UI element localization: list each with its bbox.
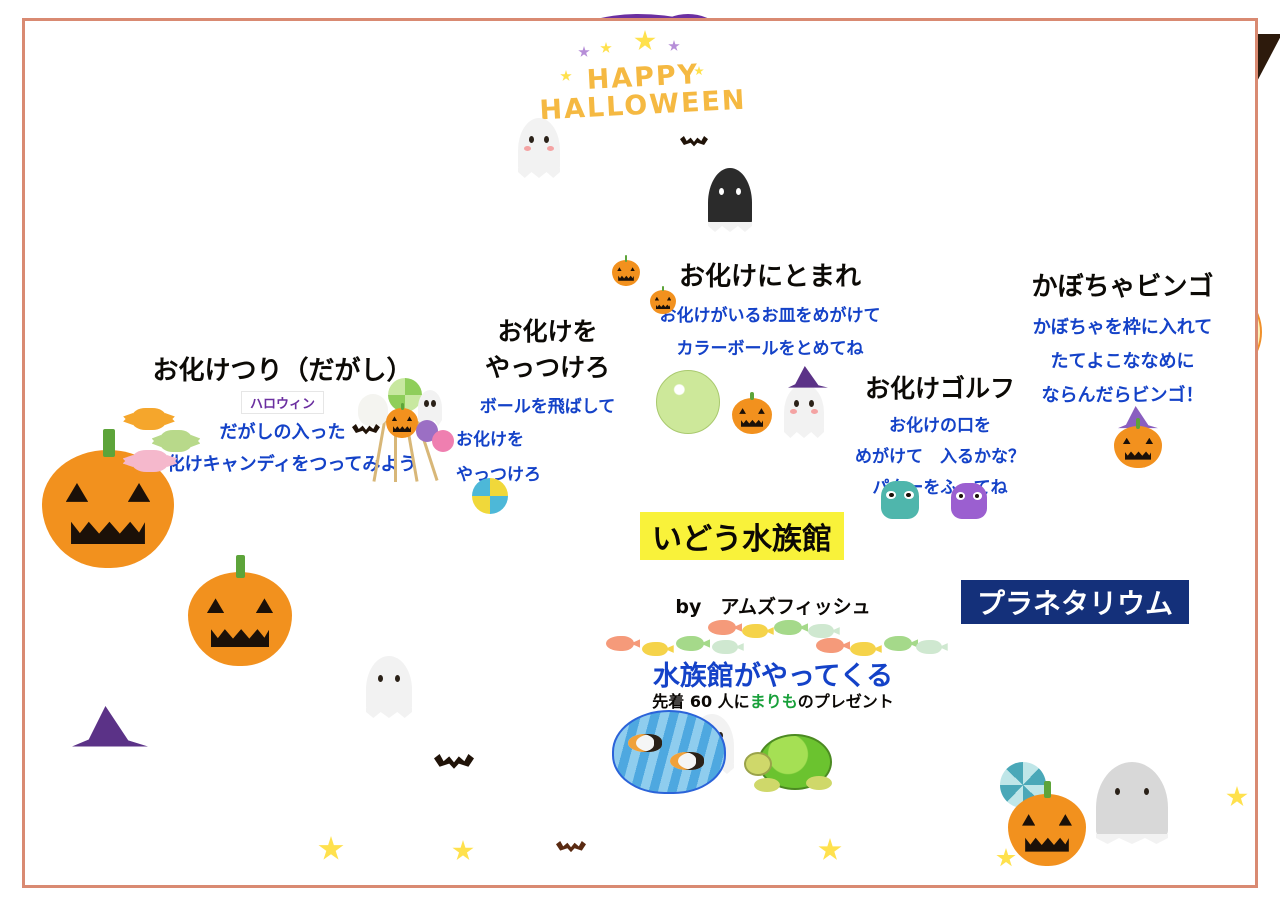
fish-icon xyxy=(884,636,912,651)
monster-pupil xyxy=(906,493,911,497)
monster-eye-left xyxy=(956,492,965,500)
turtle-head xyxy=(744,752,772,776)
pumpkin-eye-left xyxy=(1022,814,1035,826)
pumpkin-eye-right xyxy=(1059,814,1072,826)
lollipop-bouquet xyxy=(348,372,448,490)
skull-lollipop-icon xyxy=(358,394,388,426)
beach-ball-icon xyxy=(656,370,720,434)
ghost-eye-left xyxy=(1115,788,1120,795)
witch-pumpkin-icon xyxy=(1108,406,1166,472)
pumpkin-mouth xyxy=(393,425,411,432)
pumpkin-mouth xyxy=(1125,450,1152,460)
halloween-badge-text: ハロウィン xyxy=(250,397,315,412)
ghost-eye-right xyxy=(809,400,814,407)
fish-icon xyxy=(708,620,736,635)
activity-line: やっつけろ xyxy=(440,460,655,485)
aquarium-sub-text: 先着 60 人にまりものプレゼント xyxy=(588,688,958,712)
fish-icon xyxy=(676,636,704,651)
ghost-eye-left xyxy=(794,400,799,407)
pumpkin-eye-left xyxy=(739,408,746,414)
activity-line: かぼちゃを枠に入れて xyxy=(1000,313,1245,339)
pumpkin-eye-left xyxy=(66,483,88,502)
aquarium-sub-highlight: まりも xyxy=(750,692,798,711)
monster-icon xyxy=(951,483,987,519)
monster-eye-left xyxy=(886,491,896,499)
pumpkin-eye-right xyxy=(667,297,671,301)
fish-icon xyxy=(816,638,844,653)
pumpkin-icon xyxy=(188,572,292,666)
clownfish-icon xyxy=(670,752,704,770)
halloween-badge: ハロウィン xyxy=(241,391,324,414)
aquarium-label: いどう水族館 xyxy=(640,512,844,560)
ghost-eye-right xyxy=(1144,788,1149,795)
turtle-icon xyxy=(744,726,840,796)
witch-ghost-icon xyxy=(778,366,830,434)
ghost-eye-left xyxy=(719,188,724,195)
ghost-eye-right xyxy=(431,400,436,407)
pumpkin-mouth xyxy=(1025,834,1069,851)
fish-icon xyxy=(606,636,634,651)
aquarium-sub-suffix: のプレゼント xyxy=(798,692,894,711)
witch-hat-icon xyxy=(788,366,828,390)
aquarium-by: by アムズフィッシュ xyxy=(588,592,958,619)
pumpkin-eye-left xyxy=(1123,438,1131,445)
planetarium-description: 宇宙にはふしぎがいっぱい はるか遠くの 宇宙にむかって 地球をとびだそう xyxy=(940,630,1212,740)
planetarium-label-text: プラネタリウム xyxy=(977,582,1173,622)
monster-icon xyxy=(881,481,919,519)
ghost-cheek-right xyxy=(811,409,818,414)
fish-school xyxy=(600,620,950,660)
pumpkin-eye-right xyxy=(758,408,765,414)
ghost-eye-right xyxy=(395,675,400,682)
ghost-cheek-left xyxy=(790,409,797,414)
lollipop-pink-icon xyxy=(432,430,454,452)
pumpkin-icon xyxy=(1008,794,1086,866)
planetarium-line: 地球をとびだそう xyxy=(940,713,1212,741)
monster-pupil xyxy=(975,494,979,498)
pumpkin-eye-right xyxy=(1145,438,1153,445)
monster-eye-right xyxy=(973,492,982,500)
pumpkin-icon xyxy=(650,290,676,314)
pumpkin-eye-left xyxy=(617,267,622,271)
pumpkin-icon xyxy=(612,260,640,286)
planetarium-label: プラネタリウム xyxy=(961,580,1189,624)
candy-icon xyxy=(160,430,192,452)
pumpkin-eye-right xyxy=(407,416,412,421)
pumpkin-eye-left xyxy=(655,297,659,301)
clownfish-icon xyxy=(628,734,662,752)
fish-icon xyxy=(916,640,942,654)
fish-icon xyxy=(642,642,668,656)
fish-icon xyxy=(712,640,738,654)
fish-icon xyxy=(742,624,768,638)
pumpkin-mouth xyxy=(211,625,269,648)
pumpkin-mouth xyxy=(741,418,763,427)
ghost-cheek-left xyxy=(524,146,531,151)
ghost-eye-left xyxy=(378,675,383,682)
lollipop-swirl-icon xyxy=(388,378,422,412)
activity-line: ならんだらビンゴ！ xyxy=(1000,381,1245,407)
fish-icon xyxy=(808,624,834,638)
pumpkin-mouth xyxy=(71,516,145,544)
pumpkin-mouth xyxy=(656,303,671,309)
halloween-festival-poster: 2025/10/25(土) 9:00〜12:00 11:30 受付終了 HAPP… xyxy=(0,0,1280,906)
pumpkin-eye-left xyxy=(392,416,397,421)
pumpkin-eye-right xyxy=(128,483,150,502)
monster-pupil xyxy=(959,494,963,498)
ghost-eye-left xyxy=(424,400,429,407)
aquarium-sub-prefix: 先着 60 人に xyxy=(652,692,749,711)
pumpkin-eye-right xyxy=(630,267,635,271)
candy-icon xyxy=(132,408,166,430)
turtle-flipper xyxy=(754,778,780,792)
ghost-body xyxy=(784,384,824,432)
planetarium-line: 宇宙にはふしぎがいっぱい xyxy=(940,630,1212,658)
pumpkin-icon xyxy=(1114,426,1162,468)
fish-icon xyxy=(850,642,876,656)
ghost-eye-left xyxy=(529,136,534,143)
pumpkin-icon xyxy=(732,398,772,434)
bat-icon xyxy=(352,424,380,438)
candy-icon xyxy=(132,450,168,472)
pumpkin-eye-right xyxy=(256,598,274,613)
beach-ball-small-icon xyxy=(472,478,508,514)
activity-title: かぼちゃビンゴ xyxy=(1000,266,1245,303)
ghost-eye-right xyxy=(544,136,549,143)
activity-title: お化けにとまれ xyxy=(620,256,920,293)
ghost-icon xyxy=(418,390,442,420)
planetarium-line: 宇宙にむかって xyxy=(940,685,1212,713)
planetarium-line: はるか遠くの xyxy=(940,658,1212,686)
pumpkin-mouth xyxy=(618,275,634,281)
turtle-flipper xyxy=(806,776,832,790)
pumpkin-eye-left xyxy=(207,598,225,613)
hero-text-block: HAPPY HALLOWEEN xyxy=(512,64,774,119)
pumpkin-icon xyxy=(386,408,418,438)
ghost-eye-right xyxy=(736,188,741,195)
activity-line: たてよこななめに xyxy=(1000,347,1245,373)
monster-pupil xyxy=(889,493,894,497)
ghost-cheek-right xyxy=(547,146,554,151)
fish-icon xyxy=(774,620,802,635)
monster-eye-right xyxy=(904,491,914,499)
clownfish-tank-icon xyxy=(612,710,726,794)
